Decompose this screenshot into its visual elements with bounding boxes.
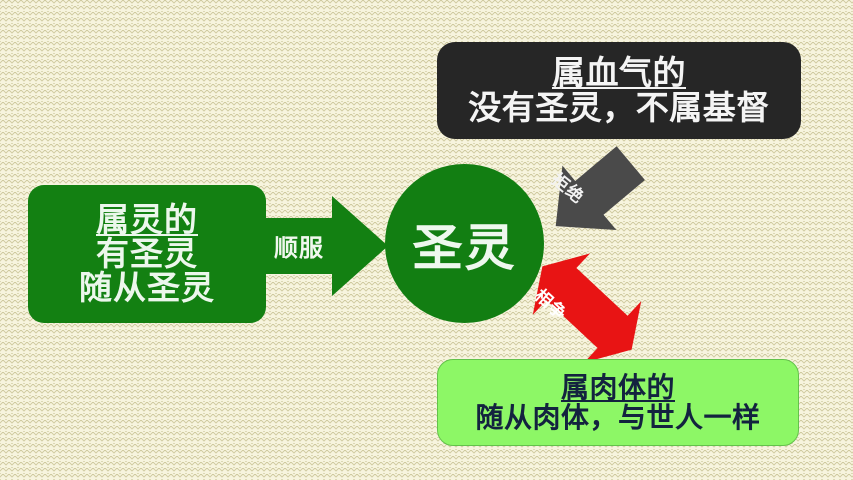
body-box: 属肉体的 随从肉体，与世人一样 [437,359,799,446]
body-box-heading: 属肉体的 [561,373,675,402]
flesh-blood-box-line-1: 没有圣灵，不属基督 [468,91,770,125]
spiritual-box-line-1: 有圣灵 [96,237,198,271]
slide-canvas: 属灵的 有圣灵 随从圣灵 顺服 圣灵 属血气的 没有圣灵，不属基督 拒绝 相争 … [0,0,853,480]
body-box-line-1: 随从肉体，与世人一样 [475,403,760,432]
spiritual-box: 属灵的 有圣灵 随从圣灵 [28,185,266,323]
spiritual-box-line-2: 随从圣灵 [79,271,215,305]
strive-arrow [524,252,650,364]
holy-spirit-circle: 圣灵 [385,164,544,323]
flesh-blood-box: 属血气的 没有圣灵，不属基督 [437,42,801,139]
spiritual-box-heading: 属灵的 [96,203,198,237]
reject-arrow [538,146,650,242]
holy-spirit-circle-label: 圣灵 [413,208,517,280]
flesh-blood-box-heading: 属血气的 [552,56,686,90]
obey-arrow [262,196,392,296]
